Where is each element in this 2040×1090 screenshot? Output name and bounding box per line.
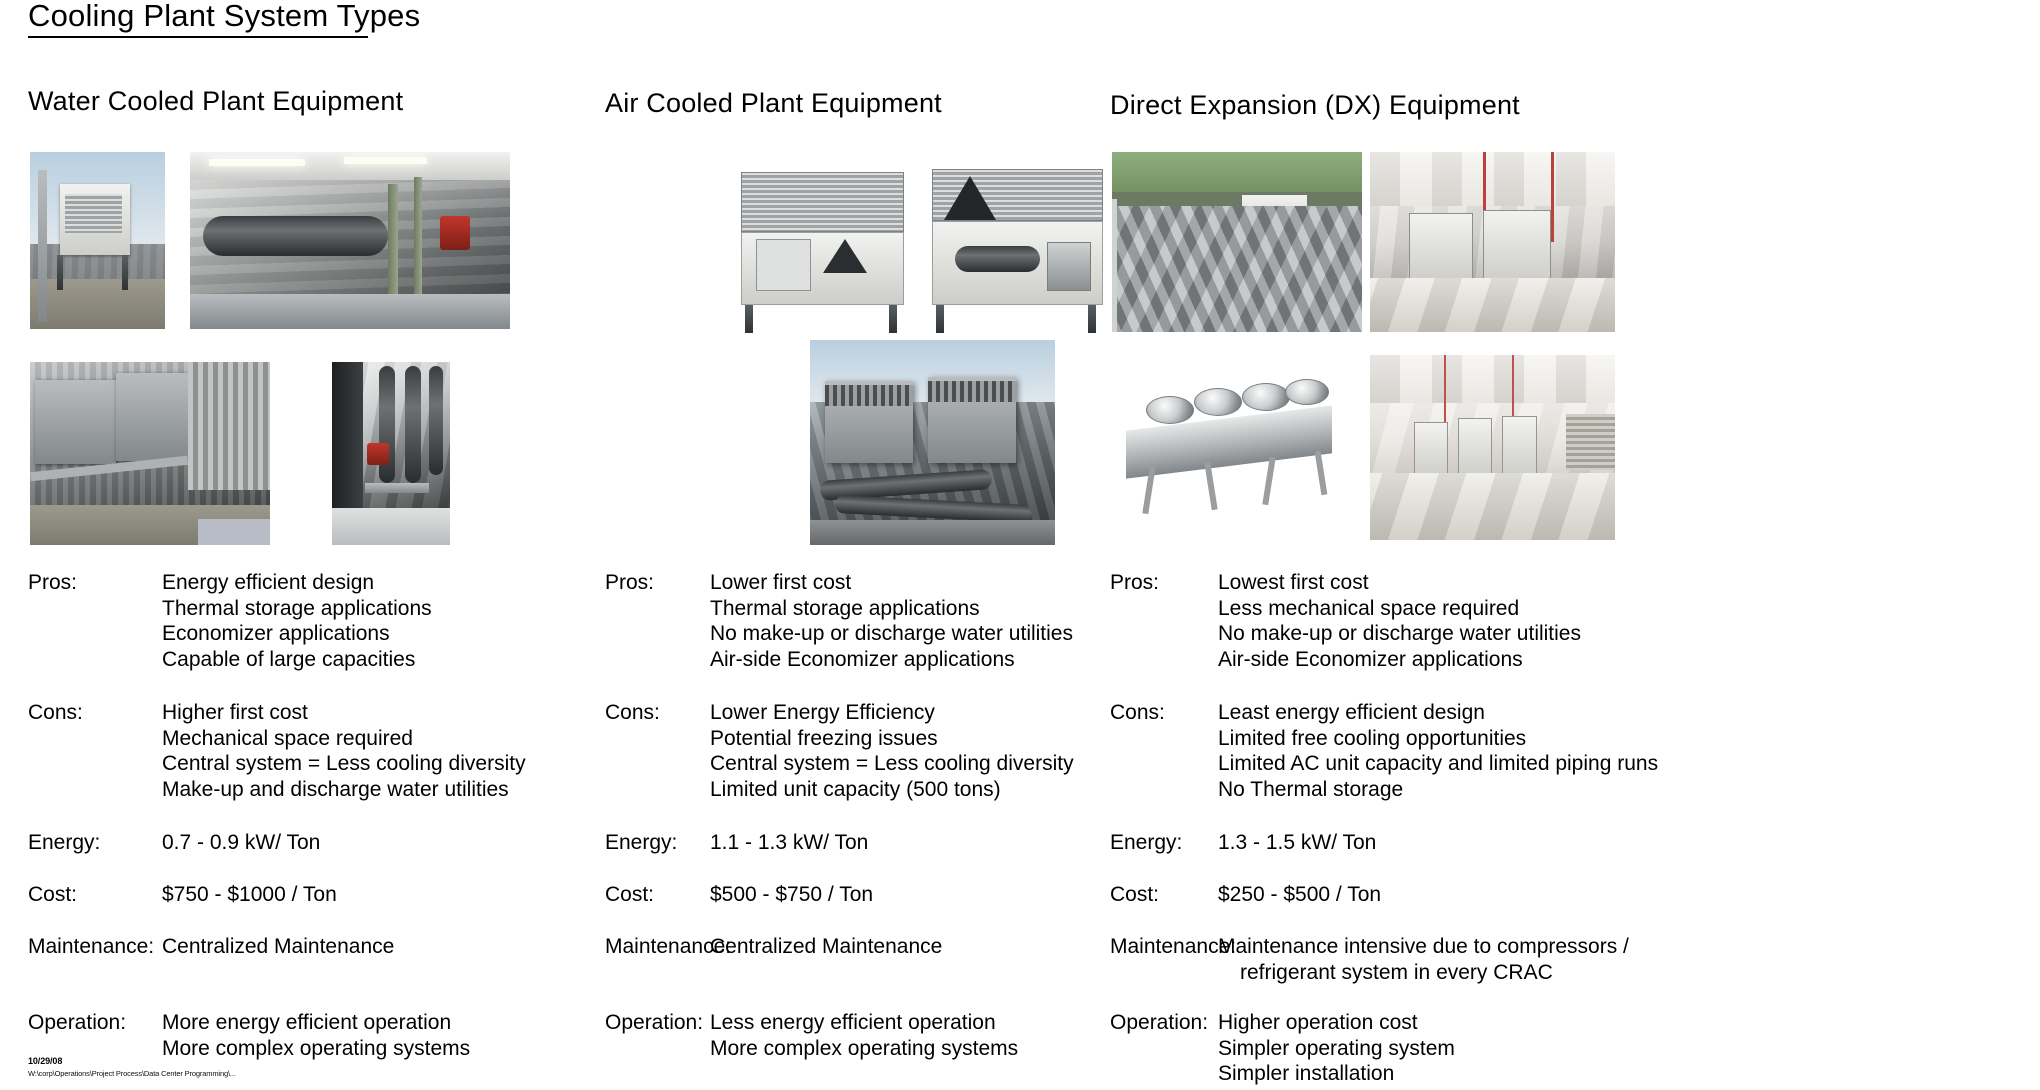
spec-label: Pros: <box>605 570 654 595</box>
air-cooled-chiller-photo <box>730 158 915 333</box>
spec-values: Centralized Maintenance <box>162 934 394 960</box>
spec-label: Cons: <box>605 700 660 725</box>
spec-label: Operation: <box>605 1010 703 1035</box>
spec-values: More energy efficient operation More com… <box>162 1010 470 1061</box>
spec-values: 1.1 - 1.3 kW/ Ton <box>710 830 868 856</box>
spec-values: Maintenance intensive due to compressors… <box>1218 934 1629 985</box>
air-cooled-chiller-open-photo <box>925 158 1110 333</box>
spec-values: $500 - $750 / Ton <box>710 882 873 908</box>
spec-label: Pros: <box>28 570 77 595</box>
spec-values: $750 - $1000 / Ton <box>162 882 337 908</box>
condenser-yard-photo <box>1112 152 1362 332</box>
spec-values: Least energy efficient design Limited fr… <box>1218 700 1658 802</box>
column-direct-expansion: Direct Expansion (DX) Equipment <box>1090 0 2040 1090</box>
spec-values: 0.7 - 0.9 kW/ Ton <box>162 830 320 856</box>
spec-label: Cost: <box>1110 882 1159 907</box>
spec-label: Maintenance: <box>28 934 154 959</box>
spec-values: Less energy efficient operation More com… <box>710 1010 1018 1061</box>
column-heading: Water Cooled Plant Equipment <box>28 86 403 117</box>
cooling-tower-array-photo <box>30 362 270 545</box>
crac-units-room-photo <box>1370 152 1615 332</box>
spec-values: Higher first cost Mechanical space requi… <box>162 700 526 802</box>
spec-values: $250 - $500 / Ton <box>1218 882 1381 908</box>
footer-date: 10/29/08 <box>28 1056 62 1066</box>
spec-label: Energy: <box>605 830 677 855</box>
spec-values: Energy efficient design Thermal storage … <box>162 570 432 672</box>
spec-label: Cost: <box>28 882 77 907</box>
spec-label: Operation: <box>1110 1010 1208 1035</box>
spec-label: Cons: <box>28 700 83 725</box>
pump-room-photo <box>332 362 450 545</box>
column-heading: Direct Expansion (DX) Equipment <box>1110 90 1520 121</box>
spec-label: Operation: <box>28 1010 126 1035</box>
spec-values: Lower first cost Thermal storage applica… <box>710 570 1073 672</box>
spec-label: Cons: <box>1110 700 1165 725</box>
spec-values: 1.3 - 1.5 kW/ Ton <box>1218 830 1376 856</box>
spec-values: Higher operation cost Simpler operating … <box>1218 1010 1455 1087</box>
rooftop-chiller-plant-photo <box>810 340 1055 545</box>
chiller-mechanical-room-photo <box>190 152 510 329</box>
spec-label: Pros: <box>1110 570 1159 595</box>
spec-label: Energy: <box>1110 830 1182 855</box>
spec-values: Lower Energy Efficiency Potential freezi… <box>710 700 1074 802</box>
spec-label: Energy: <box>28 830 100 855</box>
footer-file-path: W:\corp\Operations\Project Process\Data … <box>28 1069 236 1078</box>
slide-canvas: Cooling Plant System Types Water Cooled … <box>0 0 2040 1090</box>
dry-cooler-fan-array-photo <box>1112 355 1352 540</box>
spec-values: Lowest first cost Less mechanical space … <box>1218 570 1581 672</box>
cooling-tower-structure-photo <box>30 152 165 329</box>
spec-label: Cost: <box>605 882 654 907</box>
column-heading: Air Cooled Plant Equipment <box>605 88 942 119</box>
spec-values: Centralized Maintenance <box>710 934 942 960</box>
data-center-crac-row-photo <box>1370 355 1615 540</box>
